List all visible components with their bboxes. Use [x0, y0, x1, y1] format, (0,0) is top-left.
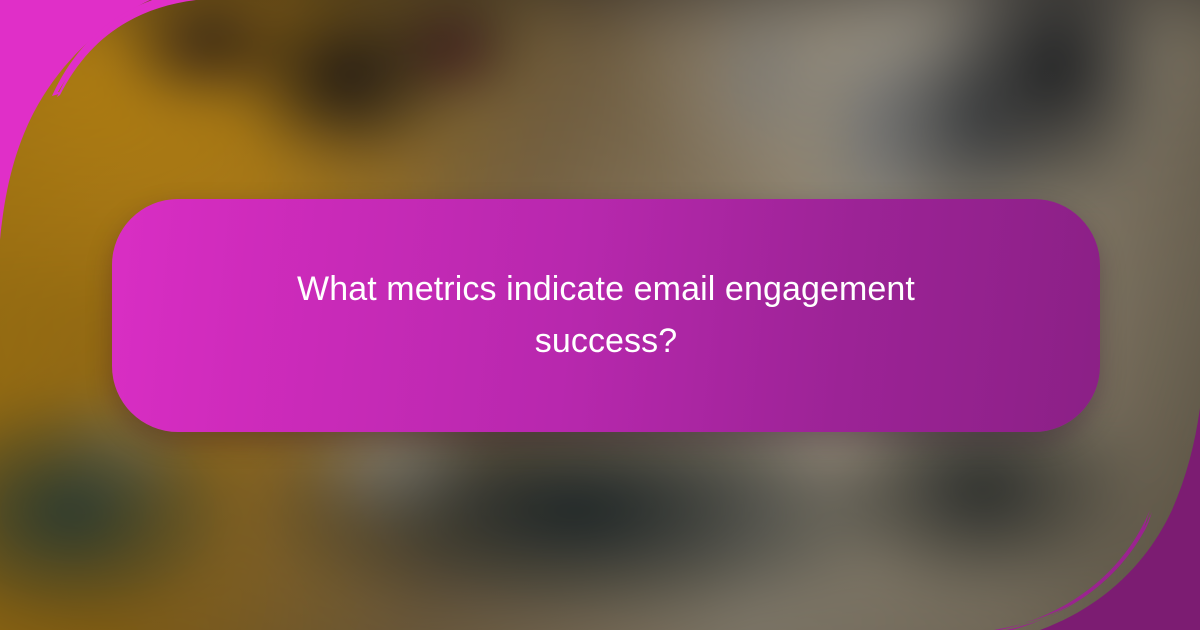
question-title: What metrics indicate email engagement s…: [256, 264, 956, 367]
question-card: What metrics indicate email engagement s…: [112, 199, 1100, 432]
og-image-canvas: What metrics indicate email engagement s…: [0, 0, 1200, 630]
